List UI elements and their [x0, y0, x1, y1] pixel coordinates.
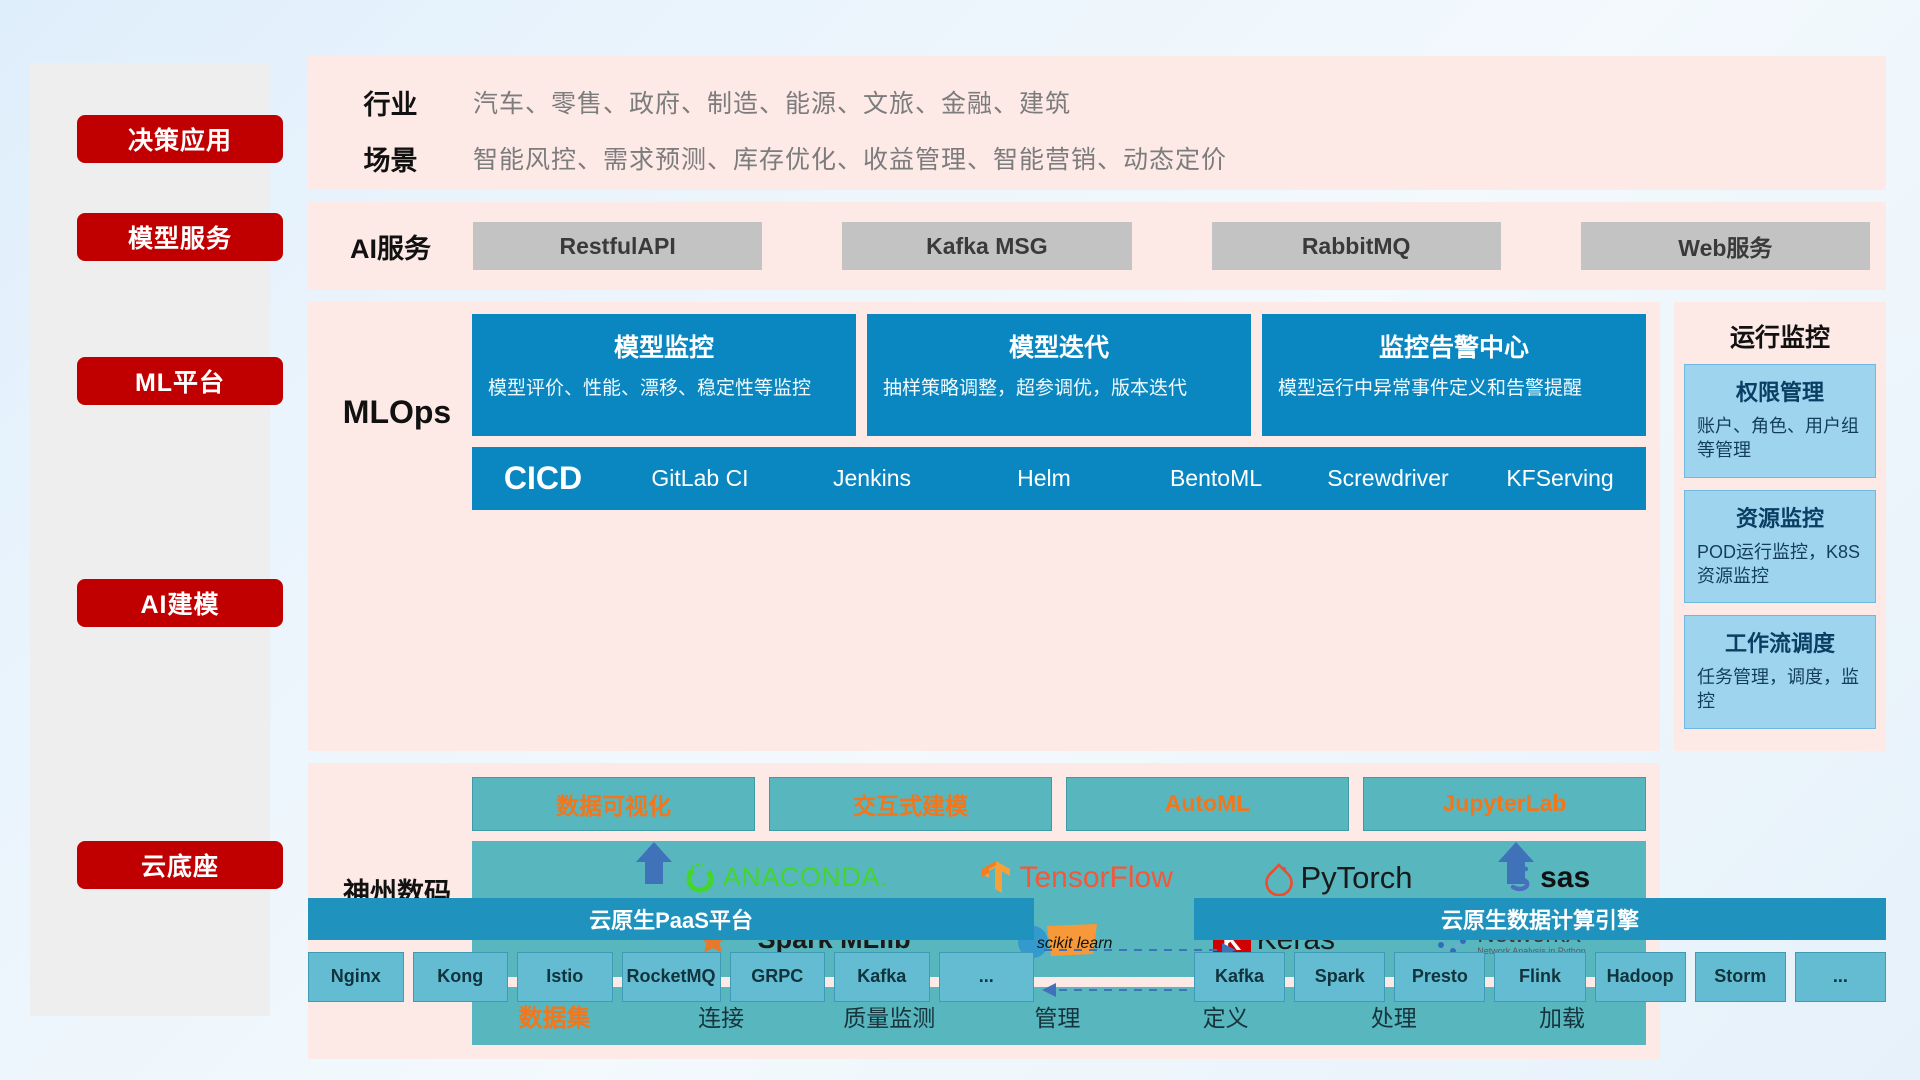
ai-service-chip-list: RestfulAPI Kafka MSG RabbitMQ Web服务 [473, 222, 1886, 270]
cloud-chip-kafka-right[interactable]: Kafka [1194, 952, 1285, 1002]
cicd-item-gitlab[interactable]: GitLab CI [614, 464, 786, 493]
scenario-items: 智能风控、需求预测、库存优化、收益管理、智能营销、动态定价 [473, 140, 1227, 176]
engine-chip-list: Kafka Spark Presto Flink Hadoop Storm ..… [1194, 952, 1886, 1002]
card-desc: 模型运行中异常事件定义和告警提醒 [1278, 376, 1630, 402]
paas-up-arrow [636, 842, 672, 884]
cloud-chip-rocketmq[interactable]: RocketMQ [622, 952, 721, 1002]
ai-service-chip-restful[interactable]: RestfulAPI [473, 222, 762, 270]
mlops-and-monitor-row: MLOps 模型监控 模型评价、性能、漂移、稳定性等监控 模型迭代 抽样策略调整… [308, 302, 1886, 751]
cloud-chip-istio[interactable]: Istio [517, 952, 613, 1002]
card-desc: POD运行监控，K8S资源监控 [1697, 540, 1863, 589]
stage-label: 模型服务 [128, 219, 232, 255]
paas-strip[interactable]: 云原生PaaS平台 [308, 898, 1034, 940]
cicd-item-kfserving[interactable]: KFServing [1474, 464, 1646, 493]
monitor-card-resource[interactable]: 资源监控 POD运行监控，K8S资源监控 [1684, 490, 1876, 604]
ai-service-band: AI服务 RestfulAPI Kafka MSG RabbitMQ Web服务 [308, 202, 1886, 290]
card-desc: 任务管理，调度，监控 [1697, 665, 1863, 714]
paas-chip-list: Nginx Kong Istio RocketMQ GRPC Kafka ... [308, 952, 1034, 1002]
mlops-label: MLOps [322, 314, 472, 510]
cloud-chip-more-right[interactable]: ... [1795, 952, 1886, 1002]
stage-rail: 决策应用 模型服务 ML平台 AI建模 云底座 [30, 63, 270, 1016]
ml-lab-tab-jupyterlab[interactable]: JupyterLab [1363, 777, 1646, 831]
cicd-bar: CICD GitLab CI Jenkins Helm BentoML Scre… [472, 447, 1646, 510]
engine-up-arrow [1498, 842, 1534, 884]
stage-chip-cloud-base[interactable]: 云底座 [77, 841, 283, 889]
card-desc: 模型评价、性能、漂移、稳定性等监控 [488, 376, 840, 402]
mlops-band: MLOps 模型监控 模型评价、性能、漂移、稳定性等监控 模型迭代 抽样策略调整… [308, 302, 1660, 751]
cloud-chip-more-left[interactable]: ... [939, 952, 1035, 1002]
mlops-card-model-iteration[interactable]: 模型迭代 抽样策略调整，超参调优，版本迭代 [867, 314, 1251, 436]
scenario-label: 场景 [308, 139, 473, 178]
card-desc: 账户、角色、用户组等管理 [1697, 414, 1863, 463]
cicd-title: CICD [472, 460, 614, 497]
cloud-chip-presto[interactable]: Presto [1394, 952, 1485, 1002]
stage-chip-ai-modeling[interactable]: AI建模 [77, 579, 283, 627]
paas-group: 云原生PaaS平台 Nginx Kong Istio RocketMQ GRPC… [308, 898, 1034, 1002]
card-title: 监控告警中心 [1278, 328, 1630, 364]
monitor-card-permission[interactable]: 权限管理 账户、角色、用户组等管理 [1684, 364, 1876, 478]
ai-service-chip-web[interactable]: Web服务 [1581, 222, 1870, 270]
cloud-chip-flink[interactable]: Flink [1494, 952, 1585, 1002]
cicd-item-helm[interactable]: Helm [958, 464, 1130, 493]
card-title: 工作流调度 [1697, 626, 1863, 658]
card-desc: 抽样策略调整，超参调优，版本迭代 [883, 376, 1235, 402]
stage-chip-model-service[interactable]: 模型服务 [77, 213, 283, 261]
industry-row: 行业 汽车、零售、政府、制造、能源、文旅、金融、建筑 [308, 78, 1886, 126]
cloud-chip-grpc[interactable]: GRPC [730, 952, 826, 1002]
ml-lab-tab-automl[interactable]: AutoML [1066, 777, 1349, 831]
card-title: 模型监控 [488, 328, 840, 364]
decision-apps-band: 行业 汽车、零售、政府、制造、能源、文旅、金融、建筑 场景 智能风控、需求预测、… [308, 56, 1886, 190]
mlops-card-list: 模型监控 模型评价、性能、漂移、稳定性等监控 模型迭代 抽样策略调整，超参调优，… [472, 314, 1646, 436]
industry-items: 汽车、零售、政府、制造、能源、文旅、金融、建筑 [473, 84, 1071, 120]
cloud-chip-storm[interactable]: Storm [1695, 952, 1786, 1002]
cloud-chip-kong[interactable]: Kong [413, 952, 509, 1002]
monitor-card-workflow[interactable]: 工作流调度 任务管理，调度，监控 [1684, 615, 1876, 729]
ai-service-label: AI服务 [308, 227, 473, 266]
stage-label: 云底座 [141, 847, 219, 883]
stage-label: AI建模 [140, 585, 219, 621]
card-title: 权限管理 [1697, 375, 1863, 407]
ai-service-chip-kafka[interactable]: Kafka MSG [842, 222, 1131, 270]
runtime-monitor-panel: 运行监控 权限管理 账户、角色、用户组等管理 资源监控 POD运行监控，K8S资… [1674, 302, 1886, 751]
stage-label: 决策应用 [128, 121, 232, 157]
cloud-chip-spark[interactable]: Spark [1294, 952, 1385, 1002]
engine-strip[interactable]: 云原生数据计算引擎 [1194, 898, 1886, 940]
cicd-item-bentoml[interactable]: BentoML [1130, 464, 1302, 493]
data-engine-group: 云原生数据计算引擎 Kafka Spark Presto Flink Hadoo… [1194, 898, 1886, 1002]
cicd-item-screwdriver[interactable]: Screwdriver [1302, 464, 1474, 493]
mlops-card-model-monitoring[interactable]: 模型监控 模型评价、性能、漂移、稳定性等监控 [472, 314, 856, 436]
scenario-row: 场景 智能风控、需求预测、库存优化、收益管理、智能营销、动态定价 [308, 134, 1886, 182]
cloud-base-zone: 云原生PaaS平台 Nginx Kong Istio RocketMQ GRPC… [308, 872, 1886, 1032]
ml-lab-tab-list: 数据可视化 交互式建模 AutoML JupyterLab [472, 777, 1646, 831]
cloud-chip-hadoop[interactable]: Hadoop [1595, 952, 1686, 1002]
cloud-chip-kafka-left[interactable]: Kafka [834, 952, 930, 1002]
ai-service-chip-rabbitmq[interactable]: RabbitMQ [1212, 222, 1501, 270]
ml-lab-tab-interactive[interactable]: 交互式建模 [769, 777, 1052, 831]
cloud-chip-nginx[interactable]: Nginx [308, 952, 404, 1002]
stage-chip-ml-platform[interactable]: ML平台 [77, 357, 283, 405]
ml-lab-tab-dataviz[interactable]: 数据可视化 [472, 777, 755, 831]
cicd-item-jenkins[interactable]: Jenkins [786, 464, 958, 493]
card-title: 资源监控 [1697, 501, 1863, 533]
stage-chip-decision[interactable]: 决策应用 [77, 115, 283, 163]
runtime-monitor-title: 运行监控 [1684, 312, 1876, 364]
card-title: 模型迭代 [883, 328, 1235, 364]
stage-label: ML平台 [135, 363, 225, 399]
industry-label: 行业 [308, 83, 473, 122]
mlops-card-alert-center[interactable]: 监控告警中心 模型运行中异常事件定义和告警提醒 [1262, 314, 1646, 436]
